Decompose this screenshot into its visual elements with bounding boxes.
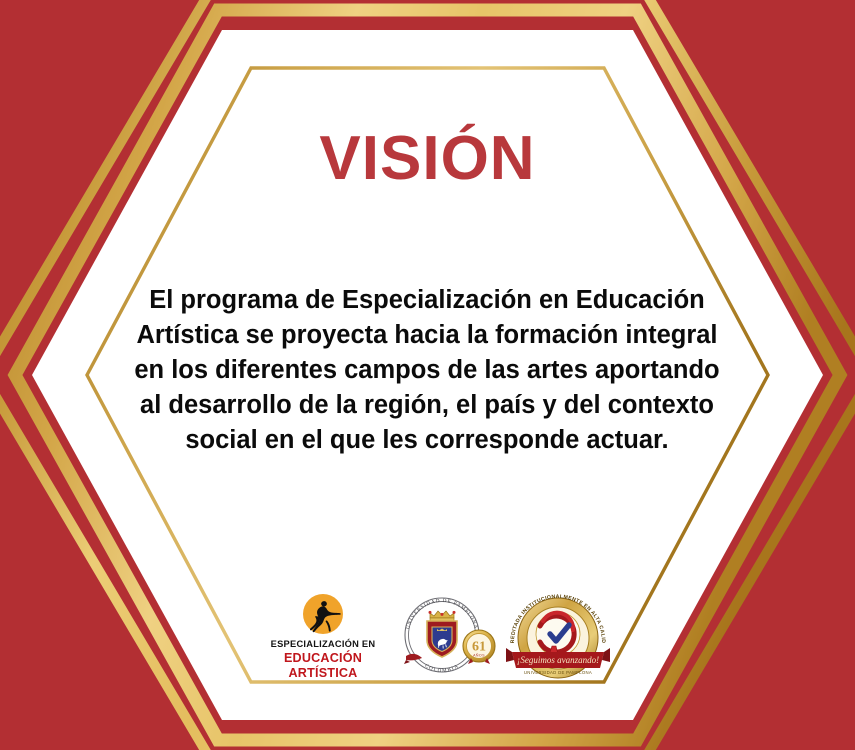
vision-poster: VISIÓN El programa de Especialización en… [0, 0, 855, 750]
vision-line: El programa de Especialización en Educac… [127, 283, 727, 318]
dancer-silhouette-icon [248, 594, 398, 638]
vision-line: en los diferentes campos de las artes ap… [127, 353, 727, 388]
accreditation-seal-icon: ACREDITADA INSTITUCIONALMENTE EN ALTA CA… [500, 594, 618, 676]
logo-caption-bottom: EDUCACIÓN ARTÍSTICA [248, 651, 398, 681]
ribbon-subtext: UNIVERSIDAD DE PAMPLONA [524, 670, 592, 675]
vision-line: Artística se proyecta hacia la formación… [127, 318, 727, 353]
logo-universidad-de-pamplona: UNIVERSIDAD DE PAMPLONA COLOMBIA [396, 594, 504, 676]
university-seal-icon: UNIVERSIDAD DE PAMPLONA COLOMBIA [396, 594, 504, 676]
ribbon-script: ¡Seguimos avanzando! [517, 655, 599, 665]
anniversary-number: 61 [472, 640, 486, 655]
vision-line: social en el que les corresponde actuar. [127, 423, 727, 458]
logo-acreditacion-alta-calidad: ACREDITADA INSTITUCIONALMENTE EN ALTA CA… [500, 594, 618, 676]
vision-statement: El programa de Especialización en Educac… [127, 283, 727, 458]
logo-especializacion-educacion-artistica: ESPECIALIZACIÓN EN EDUCACIÓN ARTÍSTICA [248, 594, 398, 681]
vision-line: al desarrollo de la región, el país y de… [127, 388, 727, 423]
logo-caption-top: ESPECIALIZACIÓN EN [248, 639, 398, 650]
anniversary-label: AÑOS [473, 653, 485, 658]
page-title: VISIÓN [0, 128, 855, 190]
logo-row: ESPECIALIZACIÓN EN EDUCACIÓN ARTÍSTICA U… [248, 594, 618, 680]
